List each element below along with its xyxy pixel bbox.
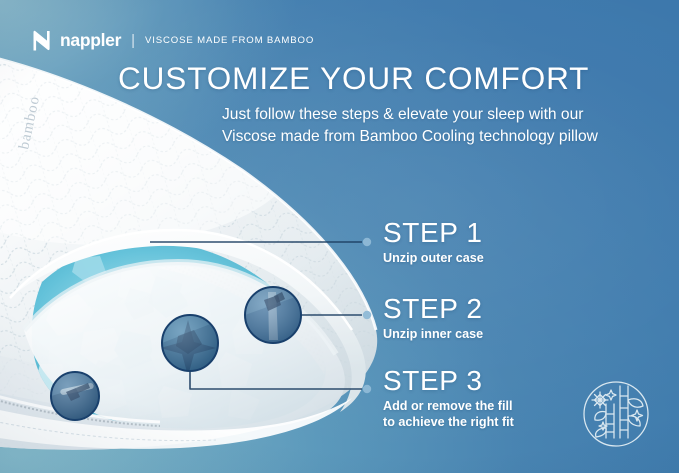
bamboo-cooling-badge-icon xyxy=(573,370,659,456)
letter-n-mark-icon xyxy=(32,30,51,51)
step-3-title: STEP 3 xyxy=(383,366,514,395)
step-3-description-line-1: Add or remove the fill xyxy=(383,399,514,414)
bamboo-stalk-short xyxy=(606,404,614,438)
marketing-infographic: bamboo xyxy=(0,0,679,473)
step-2-title: STEP 2 xyxy=(383,294,483,323)
brand-lockup[interactable]: nappler | VISCOSE MADE FROM BAMBOO xyxy=(32,30,314,51)
step-item-2: STEP 2 Unzip inner case xyxy=(383,294,483,343)
page-title: CUSTOMIZE YOUR COMFORT xyxy=(118,60,589,96)
brand-tagline: VISCOSE MADE FROM BAMBOO xyxy=(145,36,314,46)
step-1-description: Unzip outer case xyxy=(383,251,484,266)
step-item-3: STEP 3 Add or remove the fill to achieve… xyxy=(383,366,514,430)
step-1-title: STEP 1 xyxy=(383,218,484,247)
brand-name: nappler xyxy=(60,32,121,50)
brand-divider: | xyxy=(131,33,135,48)
bamboo-stalk xyxy=(620,386,628,438)
step-3-description: Add or remove the fill to achieve the ri… xyxy=(383,399,514,430)
step-3-description-line-2: to achieve the right fit xyxy=(383,415,514,430)
step-2-description: Unzip inner case xyxy=(383,327,483,342)
step-item-1: STEP 1 Unzip outer case xyxy=(383,218,484,267)
page-subtitle: Just follow these steps & elevate your s… xyxy=(222,104,642,149)
snowflake-icon xyxy=(592,392,608,408)
